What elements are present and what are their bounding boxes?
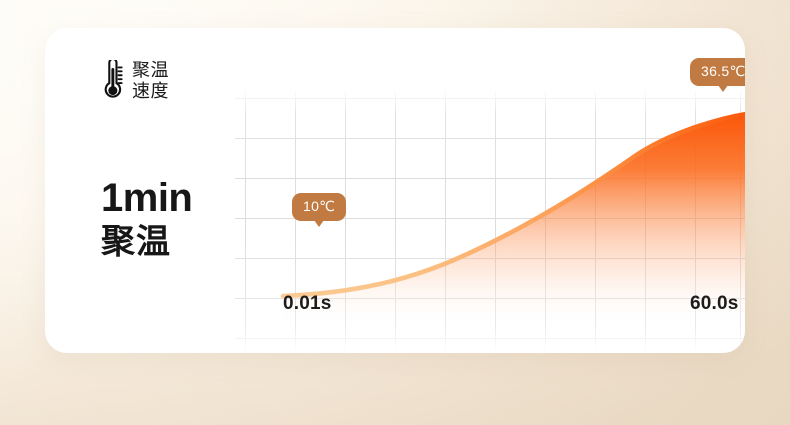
start-temperature-badge: 10℃ bbox=[292, 193, 346, 221]
feature-card: 聚温 速度 1min 聚温 bbox=[45, 28, 745, 353]
temperature-chart: 10℃ 36.5℃ 0.01s 60.0s bbox=[235, 28, 745, 353]
end-temperature-badge: 36.5℃ bbox=[690, 58, 745, 86]
header-label: 聚温 速度 bbox=[132, 60, 169, 102]
headline-caption: 聚温 bbox=[101, 222, 192, 262]
headline-block: 1min 聚温 bbox=[101, 176, 192, 262]
x-axis-label-end: 60.0s bbox=[690, 293, 739, 315]
headline-value: 1min bbox=[101, 176, 192, 220]
header-row: 聚温 速度 bbox=[101, 60, 169, 102]
thermometer-icon bbox=[101, 60, 123, 102]
page-background: 聚温 速度 1min 聚温 bbox=[0, 0, 790, 425]
x-axis-label-start: 0.01s bbox=[283, 293, 332, 315]
chart-area-fill bbox=[283, 113, 745, 328]
